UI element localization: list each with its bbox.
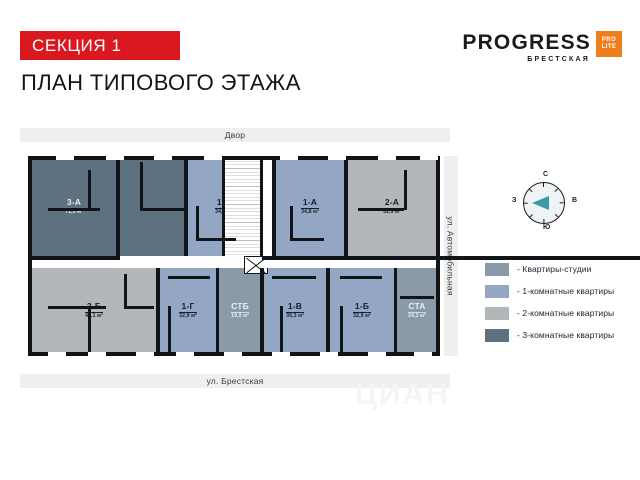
apartment-area: 32,9 м² — [353, 313, 371, 319]
compass-east-label: В — [572, 197, 577, 204]
apartment-label: 1-Г32,9 м² — [158, 302, 218, 322]
wall-segment — [124, 274, 127, 308]
apartment-label: 1-А34,8 м² — [274, 198, 346, 218]
compass-tick — [543, 219, 544, 223]
apartment-1-А[interactable]: 1-А34,8 м² — [274, 158, 346, 256]
apartment-label-inner: 1-В35,3 м² — [286, 302, 304, 319]
facade-opening — [414, 352, 432, 356]
legend-label: - 1-комнатные квартиры — [517, 286, 614, 296]
watermark: ЦИАН — [355, 378, 450, 412]
apartment-label: СТБ19,9 м² — [218, 302, 262, 322]
wall-segment — [326, 268, 330, 354]
wall-segment — [344, 158, 348, 256]
facade-opening — [48, 352, 66, 356]
compass-north-label: С — [543, 171, 548, 178]
legend-label: - 3-комнатные квартиры — [517, 330, 614, 340]
legend-color-swatch — [485, 285, 509, 298]
facade-opening — [154, 156, 172, 160]
logo-pro-lite-badge: PRO LITE — [596, 31, 622, 57]
apartment-label-inner: 3-А71,5 м² — [65, 198, 83, 215]
street-bottom-text: ул. Брестская — [207, 376, 264, 386]
logo-text: PROGRESS БРЕСТСКАЯ — [462, 30, 591, 63]
apartment-2-А[interactable]: 2-А52,9 м² — [346, 158, 438, 256]
facade-opening — [106, 156, 124, 160]
apartment-label-inner: 1-Г32,9 м² — [179, 302, 197, 319]
street-top-text: Двор — [225, 130, 245, 140]
apartment-code: 1-Б — [353, 302, 371, 313]
wall-segment — [280, 306, 283, 352]
compass-tick — [524, 202, 528, 203]
apartment-label: СТА24,3 м² — [396, 302, 438, 322]
logo-badge-line2: LITE — [602, 44, 617, 51]
apartment-area: 32,9 м² — [179, 313, 197, 319]
legend-row: - 2-комнатные квартиры — [485, 302, 614, 324]
facade-opening — [176, 352, 194, 356]
wall-segment — [260, 158, 263, 256]
wall-segment — [260, 268, 264, 354]
logo-sub-text: БРЕСТСКАЯ — [527, 56, 590, 63]
wall-segment — [400, 296, 434, 299]
wall-segment — [116, 158, 120, 256]
wall-segment — [272, 276, 316, 279]
compass-rose: С В Ю З — [523, 182, 565, 224]
facade-opening — [88, 352, 106, 356]
compass-south-label: Ю — [543, 224, 550, 231]
page-title: ПЛАН ТИПОВОГО ЭТАЖА — [21, 70, 301, 96]
legend-label: - 2-комнатные квартиры — [517, 308, 614, 318]
wall-segment — [404, 170, 407, 210]
compass-west-label: З — [512, 197, 516, 204]
floor-plan-page: СЕКЦИЯ 1 ПЛАН ТИПОВОГО ЭТАЖА PROGRESS БР… — [0, 0, 640, 480]
wall-segment — [156, 268, 160, 354]
apartment-1-В[interactable]: 1-В35,3 м² — [262, 268, 328, 354]
wall-segment — [184, 158, 188, 256]
apartment-СТА[interactable]: СТА24,3 м² — [396, 268, 438, 354]
apartment-СТБ[interactable]: СТБ19,9 м² — [218, 268, 262, 354]
wall-segment — [124, 306, 154, 309]
legend-color-swatch — [485, 307, 509, 320]
facade-opening — [368, 352, 386, 356]
wall-segment — [140, 162, 143, 208]
wall-segment — [88, 306, 91, 352]
brand-logo: PROGRESS БРЕСТСКАЯ PRO LITE — [462, 30, 622, 63]
apartment-area: 34,8 м² — [301, 209, 319, 215]
facade-opening — [136, 352, 154, 356]
core-block-upper[interactable] — [118, 158, 186, 256]
apartment-label-inner: СТБ19,9 м² — [231, 302, 249, 319]
compass-tick — [560, 202, 564, 203]
wall-segment — [48, 306, 106, 309]
legend-row: - Квартиры-студии — [485, 258, 614, 280]
logo-badge-line1: PRO — [602, 37, 616, 44]
facade-opening — [280, 156, 298, 160]
wall-segment — [168, 306, 171, 352]
facade-opening — [224, 352, 242, 356]
wall-segment — [88, 170, 91, 210]
apartment-code: 1-В — [286, 302, 304, 313]
apartment-label: 1-В35,3 м² — [262, 302, 328, 322]
apartment-label-inner: 1-Б32,9 м² — [353, 302, 371, 319]
facade-opening — [328, 156, 346, 160]
compass-needle-icon — [532, 196, 549, 210]
wall-segment — [272, 158, 276, 256]
logo-main-text: PROGRESS — [462, 32, 591, 53]
wall-segment — [28, 256, 120, 260]
wall-segment — [140, 208, 186, 211]
compass-tick — [543, 183, 544, 187]
wall-segment — [290, 238, 324, 241]
section-badge-label: СЕКЦИЯ 1 — [20, 36, 122, 56]
wall-segment — [290, 206, 293, 240]
legend: - Квартиры-студии- 1-комнатные квартиры-… — [485, 258, 614, 346]
apartment-label-inner: 2-А52,9 м² — [383, 198, 401, 215]
apartment-code: СТА — [408, 302, 426, 313]
wall-segment — [216, 268, 219, 354]
legend-row: - 1-комнатные квартиры — [485, 280, 614, 302]
apartment-1-Г[interactable]: 1-Г32,9 м² — [158, 268, 218, 354]
facade-opening — [272, 352, 290, 356]
stairwell — [224, 158, 262, 256]
apartment-area: 35,3 м² — [286, 313, 304, 319]
apartment-label: 2-Б49,1 м² — [30, 302, 158, 322]
facade-opening — [56, 156, 74, 160]
apartment-area: 19,9 м² — [231, 313, 249, 319]
wall-segment — [168, 276, 210, 279]
legend-color-swatch — [485, 329, 509, 342]
street-label-courtyard: Двор — [20, 128, 450, 142]
lobby-gap-left — [118, 256, 224, 268]
wall-segment — [196, 238, 236, 241]
legend-label: - Квартиры-студии — [517, 264, 592, 274]
wall-segment — [394, 268, 397, 354]
apartment-2-Б[interactable]: 2-Б49,1 м² — [30, 268, 158, 354]
apartment-code: 1-Г — [179, 302, 197, 313]
wall-segment — [358, 208, 404, 211]
facade-opening — [420, 156, 438, 160]
legend-color-swatch — [485, 263, 509, 276]
facade-opening — [204, 156, 222, 160]
legend-row: - 3-комнатные квартиры — [485, 324, 614, 346]
floor-plan: Двор ул. Брестская ул. Автомобильная 3-А… — [20, 128, 450, 388]
wall-segment — [222, 158, 225, 256]
wall-segment — [340, 306, 343, 352]
wall-segment — [340, 276, 382, 279]
wall-segment — [196, 206, 199, 240]
apartment-3-А[interactable]: 3-А71,5 м² — [30, 158, 118, 256]
apartment-code: 1-А — [301, 198, 319, 209]
apartment-area: 24,3 м² — [408, 313, 426, 319]
apartment-label: 1-Б32,9 м² — [328, 302, 396, 322]
stair-steps — [224, 158, 262, 256]
apartment-label-inner: 1-А34,8 м² — [301, 198, 319, 215]
facade-opening — [378, 156, 396, 160]
apartment-label-inner: СТА24,3 м² — [408, 302, 426, 319]
building-outline: 3-А71,5 м²1-Д34,8 м²1-А34,8 м²2-А52,9 м²… — [28, 156, 440, 356]
apartment-code: СТБ — [231, 302, 249, 313]
facade-opening — [320, 352, 338, 356]
wall-segment — [48, 208, 100, 211]
section-badge: СЕКЦИЯ 1 — [20, 31, 180, 60]
apartment-1-Б[interactable]: 1-Б32,9 м² — [328, 268, 396, 354]
